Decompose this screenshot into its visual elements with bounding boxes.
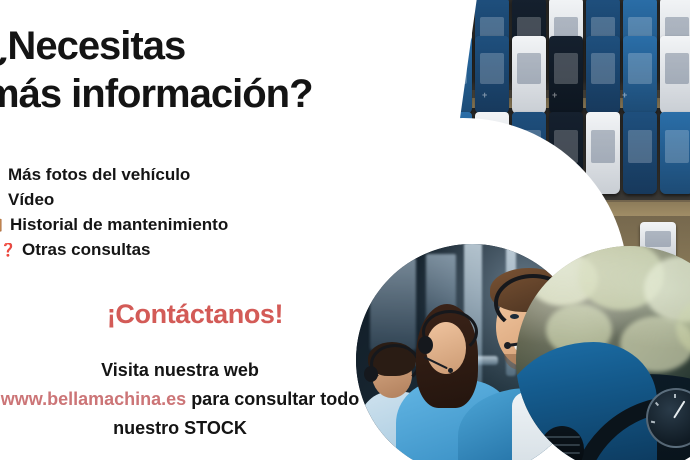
poster-canvas: + + + + + + + + + + + + <box>0 0 690 460</box>
headline-line-1: ¿Necesitas <box>0 24 185 68</box>
list-item-label: Otras consultas <box>22 237 151 262</box>
list-item: ❓Otras consultas <box>0 237 316 262</box>
question-icon: ❓ <box>0 243 14 257</box>
website-line-2: www.bellamachina.es para consultar todo <box>0 385 372 414</box>
website-block: Visita nuestra web www.bellamachina.es p… <box>0 356 372 443</box>
website-url[interactable]: www.bellamachina.es <box>1 389 186 409</box>
benefits-list: 📷Más fotos del vehículo📹Vídeo📋Historial … <box>0 162 316 262</box>
list-item-label: Historial de mantenimiento <box>10 212 228 237</box>
list-item: 📹Vídeo <box>0 187 316 212</box>
headline-line-2: más información? <box>0 72 384 116</box>
clipboard-icon: 📋 <box>0 218 2 232</box>
website-line-1: Visita nuestra web <box>0 356 372 385</box>
website-line-3: nuestro STOCK <box>0 414 372 443</box>
call-to-action-text: ¡Contáctanos! <box>0 299 390 330</box>
page-title: ¿Necesitas más información? <box>0 24 384 116</box>
list-item-label: Más fotos del vehículo <box>8 162 190 187</box>
list-item-label: Vídeo <box>8 187 54 212</box>
list-item: 📷Más fotos del vehículo <box>0 162 316 187</box>
list-item: 📋Historial de mantenimiento <box>0 212 316 237</box>
text-layer: ¿Necesitas más información? 📷Más fotos d… <box>0 0 690 460</box>
website-line-2-suffix: para consultar todo <box>186 389 359 409</box>
